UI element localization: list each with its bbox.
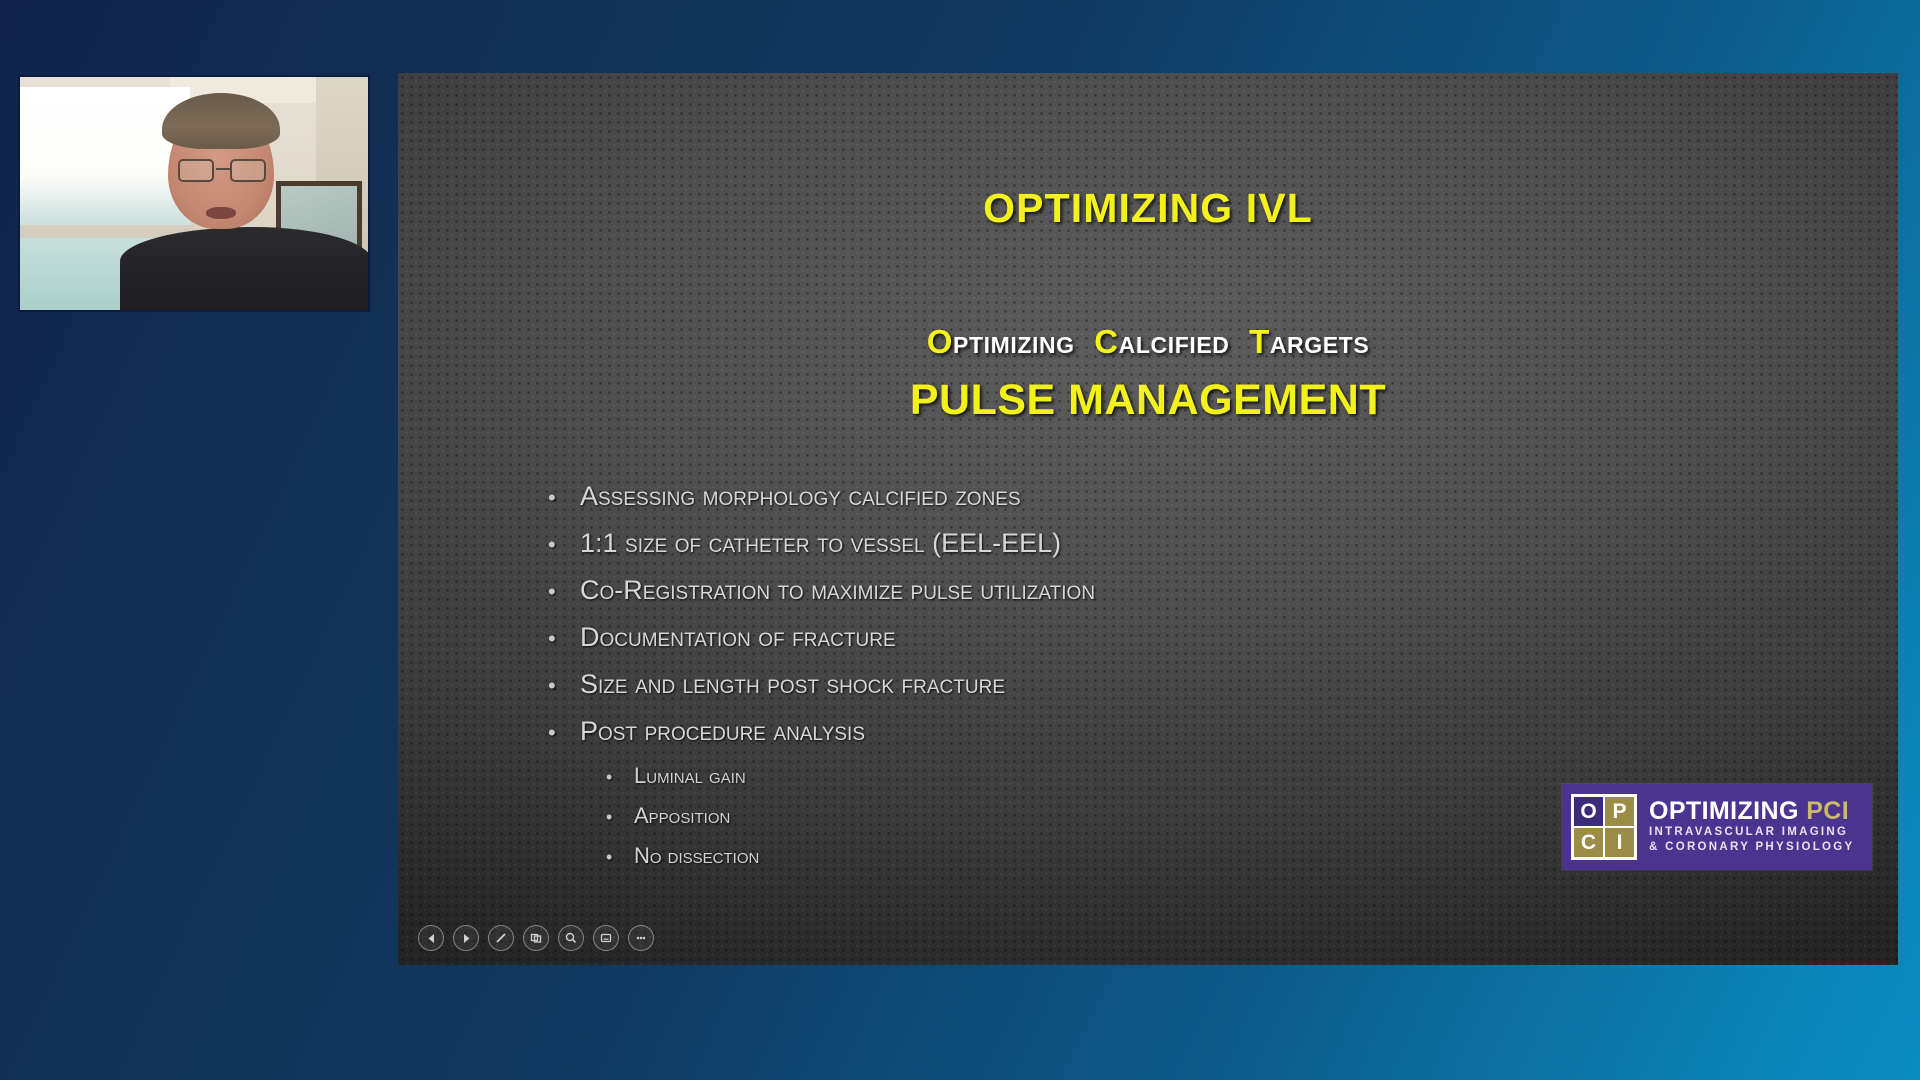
logo-wordmark: OPTIMIZING PCI INTRAVASCULAR IMAGING & C…	[1637, 798, 1862, 855]
pen-annotation-button[interactable]	[488, 925, 514, 951]
bullet-marker-icon: •	[548, 628, 580, 650]
subtitle-cap-o: O	[927, 323, 953, 360]
bullet-item: •Luminal gain	[548, 763, 1728, 789]
webcam-person-mouth	[206, 207, 236, 219]
bullet-marker-icon: •	[548, 487, 580, 509]
captions-icon	[599, 931, 613, 945]
bullet-marker-icon: •	[548, 675, 580, 697]
bullet-marker-icon: •	[606, 848, 634, 866]
magnifier-icon	[564, 931, 578, 945]
logo-cell-o: O	[1574, 797, 1603, 826]
subtitle-rest-calcified: alcified	[1119, 323, 1230, 360]
bullet-item: •Assessing morphology calcified zones	[548, 481, 1728, 512]
slide-subtitle-primary: Optimizing Calcified Targets	[398, 323, 1898, 361]
webcam-window-blind	[20, 91, 188, 98]
bullet-text: Co-Registration to maximize pulse utiliz…	[580, 575, 1728, 606]
subtitle-cap-c: C	[1094, 323, 1118, 360]
bullet-item: •Apposition	[548, 803, 1728, 829]
previous-icon	[425, 932, 438, 945]
bullet-text: Post procedure analysis	[580, 716, 1728, 747]
bullet-item: •Documentation of fracture	[548, 622, 1728, 653]
logo-cell-p: P	[1605, 797, 1634, 826]
logo-cell-c: C	[1574, 828, 1603, 857]
slide-bullet-list: •Assessing morphology calcified zones•1:…	[548, 481, 1728, 883]
bullet-item: •Co-Registration to maximize pulse utili…	[548, 575, 1728, 606]
bullet-marker-icon: •	[606, 808, 634, 826]
bullet-marker-icon: •	[548, 581, 580, 603]
bullet-marker-icon: •	[548, 722, 580, 744]
bullet-text: Documentation of fracture	[580, 622, 1728, 653]
logo-tagline-line1: INTRAVASCULAR IMAGING	[1649, 825, 1862, 841]
webcam-person-torso	[120, 227, 370, 312]
more-options-button[interactable]	[628, 925, 654, 951]
bullet-item: •Size and length post shock fracture	[548, 669, 1728, 700]
logo-title-optimizing: OPTIMIZING	[1649, 797, 1799, 825]
bullet-item: •1:1 size of catheter to vessel (EEL-EEL…	[548, 528, 1728, 559]
previous-slide-button[interactable]	[418, 925, 444, 951]
subtitle-cap-t: T	[1249, 323, 1270, 360]
slide-subtitle-secondary: PULSE MANAGEMENT	[398, 376, 1898, 425]
next-icon	[460, 932, 473, 945]
slide-grid-button[interactable]	[523, 925, 549, 951]
captions-button[interactable]	[593, 925, 619, 951]
subtitle-rest-targets: argets	[1270, 323, 1369, 360]
logo-title-line: OPTIMIZING PCI	[1649, 798, 1862, 824]
presenter-video-thumbnail[interactable]	[18, 75, 370, 312]
bullet-item: •Post procedure analysis	[548, 716, 1728, 747]
slide-controls-toolbar[interactable]	[418, 925, 654, 951]
bullet-text: 1:1 size of catheter to vessel (EEL-EEL)	[580, 528, 1728, 559]
bullet-marker-icon: •	[548, 534, 580, 556]
bullet-marker-icon: •	[606, 768, 634, 786]
subtitle-rest-optimizing: ptimizing	[953, 323, 1075, 360]
next-slide-button[interactable]	[453, 925, 479, 951]
presentation-slide[interactable]: OPTIMIZING IVL Optimizing Calcified Targ…	[398, 73, 1898, 965]
bullet-item: •No dissection	[548, 843, 1728, 869]
ellipsis-icon	[634, 931, 648, 945]
bullet-text: Assessing morphology calcified zones	[580, 481, 1728, 512]
logo-title-pci: PCI	[1806, 797, 1849, 825]
logo-tagline-line2: & CORONARY PHYSIOLOGY	[1649, 840, 1862, 856]
logo-cell-i: I	[1605, 828, 1634, 857]
slide-title: OPTIMIZING IVL	[398, 185, 1898, 232]
logo-letter-grid: O P C I	[1571, 794, 1637, 860]
zoom-button[interactable]	[558, 925, 584, 951]
webcam-person-glasses	[176, 159, 268, 182]
grid-icon	[529, 931, 543, 945]
pen-icon	[494, 931, 508, 945]
optimizing-pci-logo: O P C I OPTIMIZING PCI INTRAVASCULAR IMA…	[1562, 784, 1872, 870]
bullet-text: Size and length post shock fracture	[580, 669, 1728, 700]
